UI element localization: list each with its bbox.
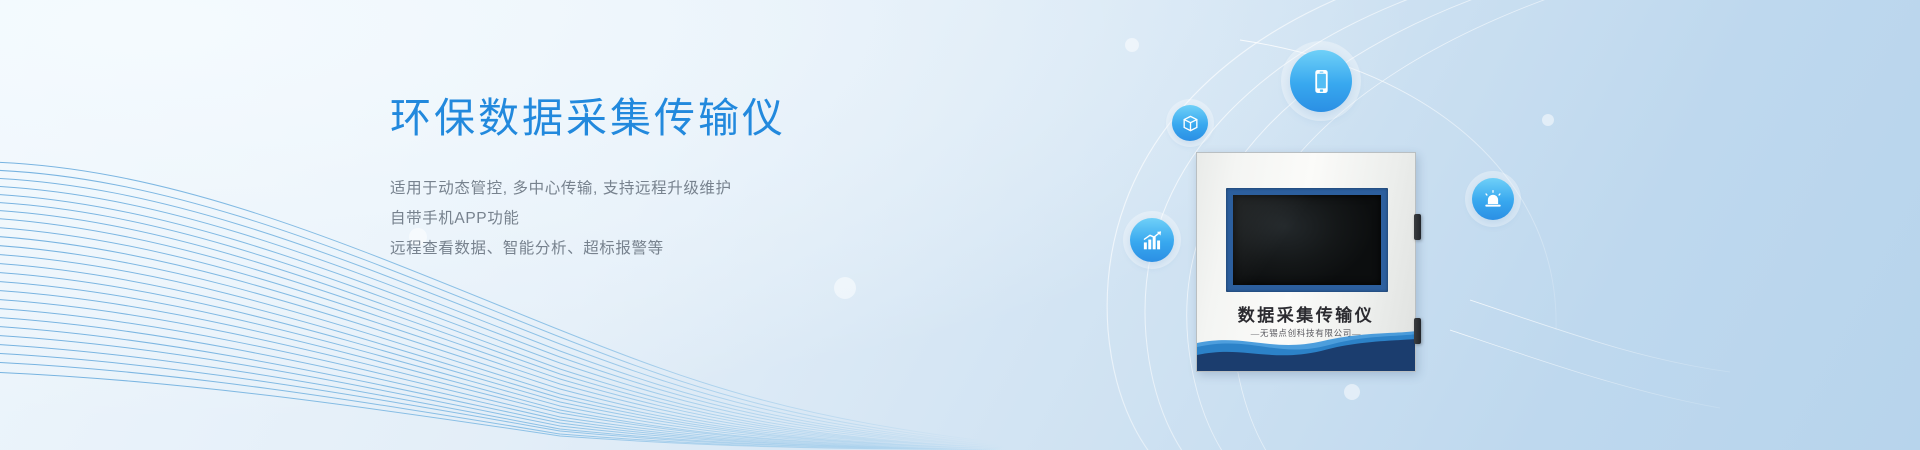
feature-item-1: 适用于动态管控, 多中心传输, 支持远程升级维护	[390, 174, 910, 204]
page-title: 环保数据采集传输仪	[390, 92, 910, 144]
feature-item-3: 远程查看数据、智能分析、超标报警等	[390, 234, 910, 264]
device-base-wave	[1197, 329, 1416, 371]
device-hinge-top	[1414, 214, 1421, 240]
alarm-icon	[1472, 178, 1514, 220]
device-enclosure: 数据采集传输仪 —无锡点创科技有限公司—	[1196, 152, 1416, 372]
product-hero-banner: 环保数据采集传输仪 适用于动态管控, 多中心传输, 支持远程升级维护 自带手机A…	[0, 0, 1920, 450]
device-model-label: 数据采集传输仪	[1197, 301, 1415, 326]
hero-text-block: 环保数据采集传输仪 适用于动态管控, 多中心传输, 支持远程升级维护 自带手机A…	[390, 92, 910, 264]
feature-item-2: 自带手机APP功能	[390, 204, 910, 234]
device-hinge-bottom	[1414, 318, 1421, 344]
device-screen-bezel	[1226, 188, 1388, 292]
device-display	[1233, 195, 1381, 285]
box-icon	[1172, 105, 1208, 141]
chart-icon	[1130, 218, 1174, 262]
phone-icon	[1290, 50, 1352, 112]
product-device: 数据采集传输仪 —无锡点创科技有限公司—	[1196, 152, 1416, 372]
decorative-wave-lines	[0, 0, 1920, 450]
feature-list: 适用于动态管控, 多中心传输, 支持远程升级维护 自带手机APP功能 远程查看数…	[390, 174, 910, 264]
